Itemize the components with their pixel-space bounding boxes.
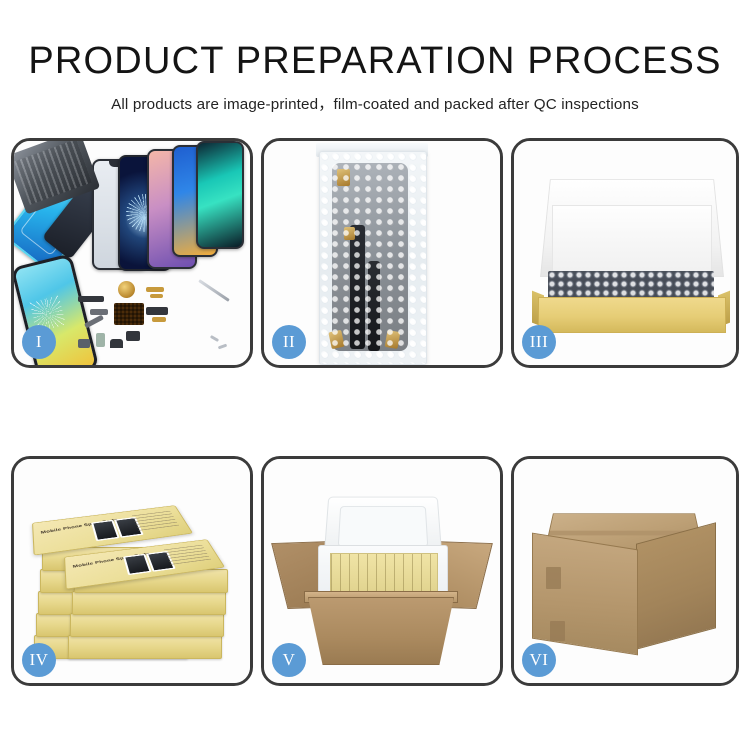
gold-connector-mid: [344, 227, 355, 240]
process-panel-5: V: [261, 456, 503, 686]
carton-right-face: [636, 522, 716, 649]
spare-part-module-a: [146, 307, 168, 315]
mailer-front-panel: [538, 297, 726, 333]
box-checklist-front: [164, 545, 212, 567]
box-stack: Mobile Phone Spare Parts Mobile Phone Sp…: [30, 485, 240, 675]
gold-connector-top: [337, 169, 350, 186]
page-header: PRODUCT PREPARATION PROCESS All products…: [0, 0, 750, 114]
carton-front-face: [532, 533, 638, 656]
process-panel-6: VI: [511, 456, 739, 686]
spare-part-camera: [126, 331, 140, 341]
stacked-box-front-6: [68, 635, 222, 659]
foam-sheet: [552, 205, 712, 275]
step-badge-1: I: [22, 325, 56, 359]
stacked-box-front-5: [70, 613, 224, 637]
process-step-grid: I II III: [11, 138, 739, 686]
spare-part-connector-a: [90, 309, 108, 315]
spare-part-screw-b: [218, 344, 227, 350]
open-mailer-box: [532, 163, 730, 341]
spare-part-screw-a: [210, 335, 219, 342]
spare-part-module-b: [152, 317, 166, 322]
page-title: PRODUCT PREPARATION PROCESS: [0, 0, 750, 82]
spare-part-housing: [110, 339, 123, 348]
phone-display-teal: [196, 141, 244, 249]
page-subtitle: All products are image-printed，film-coat…: [0, 82, 750, 114]
open-carton-with-cooler: [282, 487, 482, 667]
stacked-box-front-4: [72, 591, 226, 615]
spare-part-gold-clip: [150, 294, 163, 298]
screen-flex-cable-main: [350, 225, 365, 349]
step-badge-3: III: [522, 325, 556, 359]
step-badge-2: II: [272, 325, 306, 359]
spare-part-bracket: [78, 339, 90, 348]
process-panel-4: Mobile Phone Spare Parts Mobile Phone Sp…: [11, 456, 253, 686]
sealed-shipping-carton: [528, 493, 718, 653]
step-badge-5: V: [272, 643, 306, 677]
step-badge-4: IV: [22, 643, 56, 677]
carton-tape-lower: [550, 621, 565, 641]
screen-flex-cable-secondary: [368, 261, 380, 351]
carton-tape-upper: [546, 567, 561, 589]
step-badge-6: VI: [522, 643, 556, 677]
spare-part-speaker-coin: [118, 281, 135, 298]
spare-part-battery-cell: [96, 333, 105, 347]
spare-part-gold-flex: [146, 287, 164, 292]
spare-part-flex-cable: [84, 315, 104, 329]
carton-front-panel: [308, 597, 454, 665]
spare-part-chip-array: [114, 303, 144, 325]
tweezer-tool: [198, 279, 230, 302]
process-panel-3: III: [511, 138, 739, 368]
process-panel-1: I: [11, 138, 253, 368]
process-panel-2: II: [261, 138, 503, 368]
spare-part-earpiece: [78, 296, 104, 302]
box-checklist-rear: [132, 511, 180, 533]
